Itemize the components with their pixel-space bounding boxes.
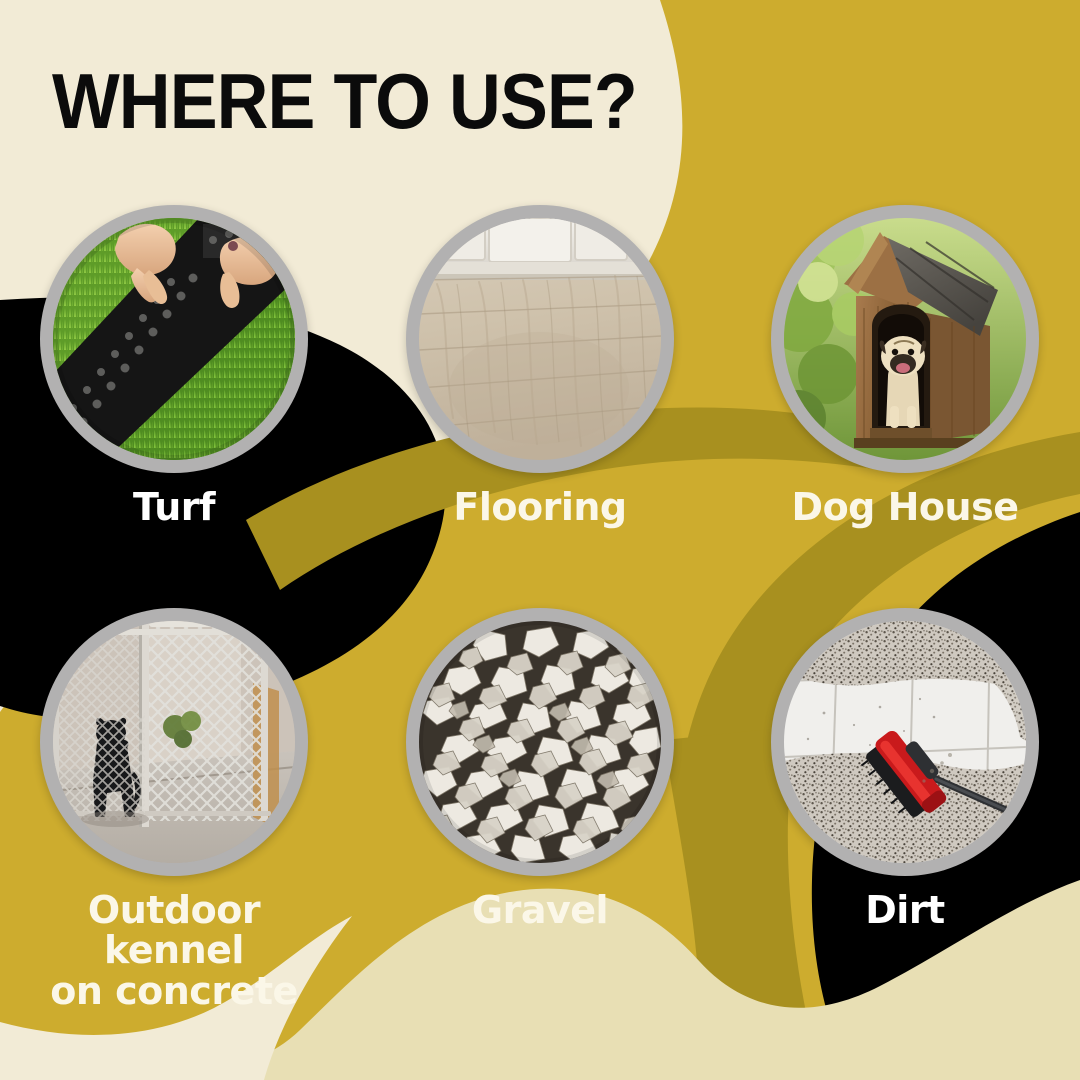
wood-laminate-flooring-photo	[419, 218, 661, 460]
photo-ring	[771, 608, 1039, 876]
wooden-dog-house-photo	[784, 218, 1026, 460]
artificial-turf-installation-photo	[53, 218, 295, 460]
use-case-card-doghouse[interactable]: Dog House	[755, 205, 1055, 527]
use-case-card-turf[interactable]: Turf	[24, 205, 324, 527]
outdoor-chain-link-kennel-photo	[53, 621, 295, 863]
use-case-card-kennel[interactable]: Outdoor kennel on concrete	[24, 608, 324, 1011]
use-case-label: Dog House	[755, 487, 1055, 527]
use-case-label: Dirt	[755, 890, 1055, 930]
page-title: WHERE TO USE?	[52, 62, 637, 140]
sweeping-dirt-off-tile-photo	[784, 621, 1026, 863]
photo-ring	[406, 205, 674, 473]
use-case-card-flooring[interactable]: Flooring	[390, 205, 690, 527]
photo-ring	[40, 205, 308, 473]
use-case-label: Outdoor kennel on concrete	[24, 890, 324, 1011]
photo-ring	[40, 608, 308, 876]
use-case-card-gravel[interactable]: Gravel	[390, 608, 690, 930]
infographic-canvas: WHERE TO USE?	[0, 0, 1080, 1080]
use-case-label: Flooring	[390, 487, 690, 527]
use-case-label: Turf	[24, 487, 324, 527]
use-case-label: Gravel	[390, 890, 690, 930]
photo-ring	[771, 205, 1039, 473]
use-case-card-dirt[interactable]: Dirt	[755, 608, 1055, 930]
photo-ring	[406, 608, 674, 876]
crushed-gravel-photo	[419, 621, 661, 863]
